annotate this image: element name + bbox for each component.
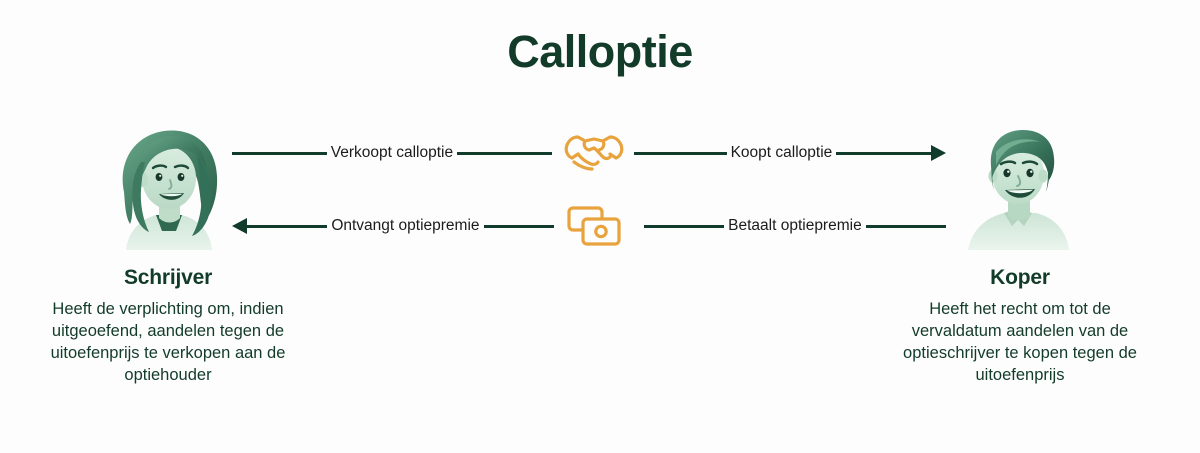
page-title: Calloptie xyxy=(0,26,1200,78)
flow-line xyxy=(484,225,564,228)
flow-bottom-right-segment: Betaalt optiepremie xyxy=(644,217,946,235)
flow-top-left-segment: Verkoopt calloptie xyxy=(232,144,552,162)
flow-line xyxy=(644,225,724,228)
flow-line xyxy=(836,152,931,155)
flow-line xyxy=(247,225,327,228)
diagram-canvas: Calloptie xyxy=(0,0,1200,453)
buyer-block: Koper Heeft het recht om tot de vervalda… xyxy=(870,266,1170,387)
flow-line xyxy=(632,152,727,155)
flow-line xyxy=(457,152,552,155)
buyer-description: Heeft het recht om tot de vervaldatum aa… xyxy=(870,299,1170,387)
buyer-name: Koper xyxy=(870,266,1170,290)
arrow-right-icon xyxy=(931,145,946,161)
flow-label-ontvangt-optiepremie: Ontvangt optiepremie xyxy=(327,217,483,235)
flow-top-right-segment: Koopt calloptie xyxy=(632,144,946,162)
writer-description: Heeft de verplichting om, indien uitgeoe… xyxy=(18,299,318,387)
flow-bottom-left-segment: Ontvangt optiepremie xyxy=(232,217,564,235)
writer-block: Schrijver Heeft de verplichting om, indi… xyxy=(18,266,318,387)
flow-line xyxy=(866,225,946,228)
buyer-avatar xyxy=(952,118,1084,250)
arrow-left-icon xyxy=(232,218,247,234)
handshake-icon xyxy=(554,126,634,178)
flow-line xyxy=(232,152,327,155)
flow-label-verkoopt-calloptie: Verkoopt calloptie xyxy=(327,144,457,162)
money-icon xyxy=(554,200,634,252)
writer-avatar xyxy=(102,118,234,250)
flow-label-koopt-calloptie: Koopt calloptie xyxy=(727,144,837,162)
writer-name: Schrijver xyxy=(18,266,318,290)
flow-label-betaalt-optiepremie: Betaalt optiepremie xyxy=(724,217,866,235)
